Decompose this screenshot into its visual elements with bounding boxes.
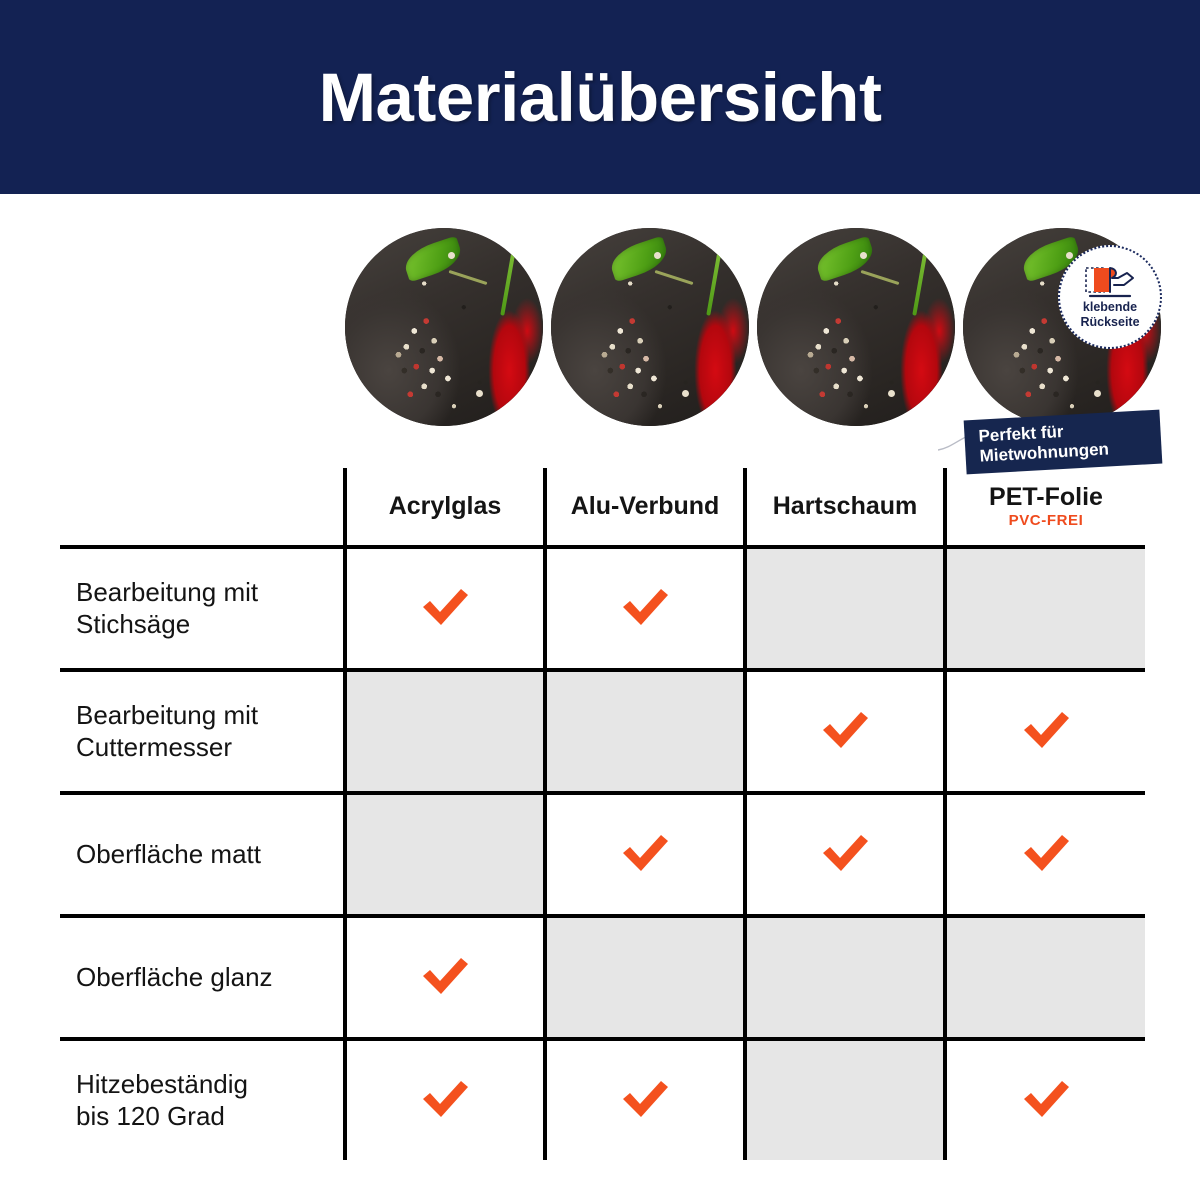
rental-suitable-ribbon: Perfekt für Mietwohnungen xyxy=(964,410,1163,475)
column-header-pet-folie-sublabel: PVC-FREI xyxy=(947,512,1145,529)
table-row: Oberfläche glanz xyxy=(60,916,1145,1039)
checkmark-icon xyxy=(417,584,473,628)
cell-stichsaege-pet-folie xyxy=(945,547,1145,670)
cell-cuttermesser-pet-folie xyxy=(945,670,1145,793)
cell-matt-pet-folie xyxy=(945,793,1145,916)
material-comparison-table: Acrylglas Alu-Verbund Hartschaum PET-Fol… xyxy=(60,468,1145,1160)
row-label-cell: Hitzebeständig bis 120 Grad xyxy=(60,1039,345,1160)
row-label-cell: Bearbeitung mit Cuttermesser xyxy=(60,670,345,793)
cell-stichsaege-alu-verbund xyxy=(545,547,745,670)
column-header-alu-verbund: Alu-Verbund xyxy=(545,468,745,547)
checkmark-icon xyxy=(417,953,473,997)
cell-glanz-alu-verbund xyxy=(545,916,745,1039)
checkmark-icon xyxy=(1018,830,1074,874)
leaf-stem-icon xyxy=(654,269,693,284)
sticky-back-badge: klebende Rückseite xyxy=(1058,245,1162,349)
cell-stichsaege-hartschaum xyxy=(745,547,945,670)
page-header: Materialübersicht xyxy=(0,0,1200,194)
spice-photo xyxy=(757,228,955,426)
chili-stalk-icon xyxy=(913,238,930,316)
cell-hitzebestaendig-alu-verbund xyxy=(545,1039,745,1160)
seed-icon xyxy=(1066,252,1073,259)
cell-cuttermesser-alu-verbund xyxy=(545,670,745,793)
cell-cuttermesser-hartschaum xyxy=(745,670,945,793)
sticky-back-badge-label: klebende Rückseite xyxy=(1080,300,1139,329)
chili-stalk-icon xyxy=(707,238,724,316)
leaf-stem-icon xyxy=(860,269,899,284)
cell-glanz-acrylglas xyxy=(345,916,545,1039)
cell-hitzebestaendig-hartschaum xyxy=(745,1039,945,1160)
table-row: Oberfläche matt xyxy=(60,793,1145,916)
table-row: Bearbeitung mit Stichsäge xyxy=(60,547,1145,670)
cell-hitzebestaendig-pet-folie xyxy=(945,1039,1145,1160)
table-row: Bearbeitung mit Cuttermesser xyxy=(60,670,1145,793)
cell-matt-alu-verbund xyxy=(545,793,745,916)
material-thumbnail-hartschaum[interactable] xyxy=(757,228,955,426)
checkmark-icon xyxy=(417,1076,473,1120)
spice-photo xyxy=(551,228,749,426)
cell-stichsaege-acrylglas xyxy=(345,547,545,670)
rental-suitable-ribbon-label: Perfekt für Mietwohnungen xyxy=(978,420,1109,467)
material-thumbnail-strip xyxy=(345,228,1145,433)
material-thumbnail-alu-verbund[interactable] xyxy=(551,228,749,426)
seed-icon xyxy=(654,252,661,259)
peel-adhesive-icon xyxy=(1084,265,1136,299)
column-header-acrylglas: Acrylglas xyxy=(345,468,545,547)
checkmark-icon xyxy=(617,584,673,628)
cell-matt-acrylglas xyxy=(345,793,545,916)
table-row: Hitzebeständig bis 120 Grad xyxy=(60,1039,1145,1160)
spice-photo xyxy=(345,228,543,426)
column-header-hartschaum: Hartschaum xyxy=(745,468,945,547)
page-title: Materialübersicht xyxy=(319,63,882,132)
checkmark-icon xyxy=(1018,1076,1074,1120)
seed-icon xyxy=(448,252,455,259)
row-label-cell: Oberfläche matt xyxy=(60,793,345,916)
row-label-cell: Oberfläche glanz xyxy=(60,916,345,1039)
cell-hitzebestaendig-acrylglas xyxy=(345,1039,545,1160)
checkmark-icon xyxy=(817,707,873,751)
seed-icon xyxy=(888,390,895,397)
row-label-cell: Bearbeitung mit Stichsäge xyxy=(60,547,345,670)
cell-glanz-hartschaum xyxy=(745,916,945,1039)
leaf-stem-icon xyxy=(448,269,487,284)
cell-cuttermesser-acrylglas xyxy=(345,670,545,793)
seed-icon xyxy=(1094,390,1101,397)
seed-icon xyxy=(682,390,689,397)
cell-glanz-pet-folie xyxy=(945,916,1145,1039)
table-header-row: Acrylglas Alu-Verbund Hartschaum PET-Fol… xyxy=(60,468,1145,547)
chili-stalk-icon xyxy=(501,238,518,316)
material-thumbnail-acrylglas[interactable] xyxy=(345,228,543,426)
cell-matt-hartschaum xyxy=(745,793,945,916)
table-corner-cell xyxy=(60,468,345,547)
checkmark-icon xyxy=(617,1076,673,1120)
checkmark-icon xyxy=(817,830,873,874)
column-header-pet-folie: PET-Folie PVC-FREI xyxy=(945,468,1145,547)
seed-icon xyxy=(860,252,867,259)
seed-icon xyxy=(476,390,483,397)
checkmark-icon xyxy=(617,830,673,874)
checkmark-icon xyxy=(1018,707,1074,751)
